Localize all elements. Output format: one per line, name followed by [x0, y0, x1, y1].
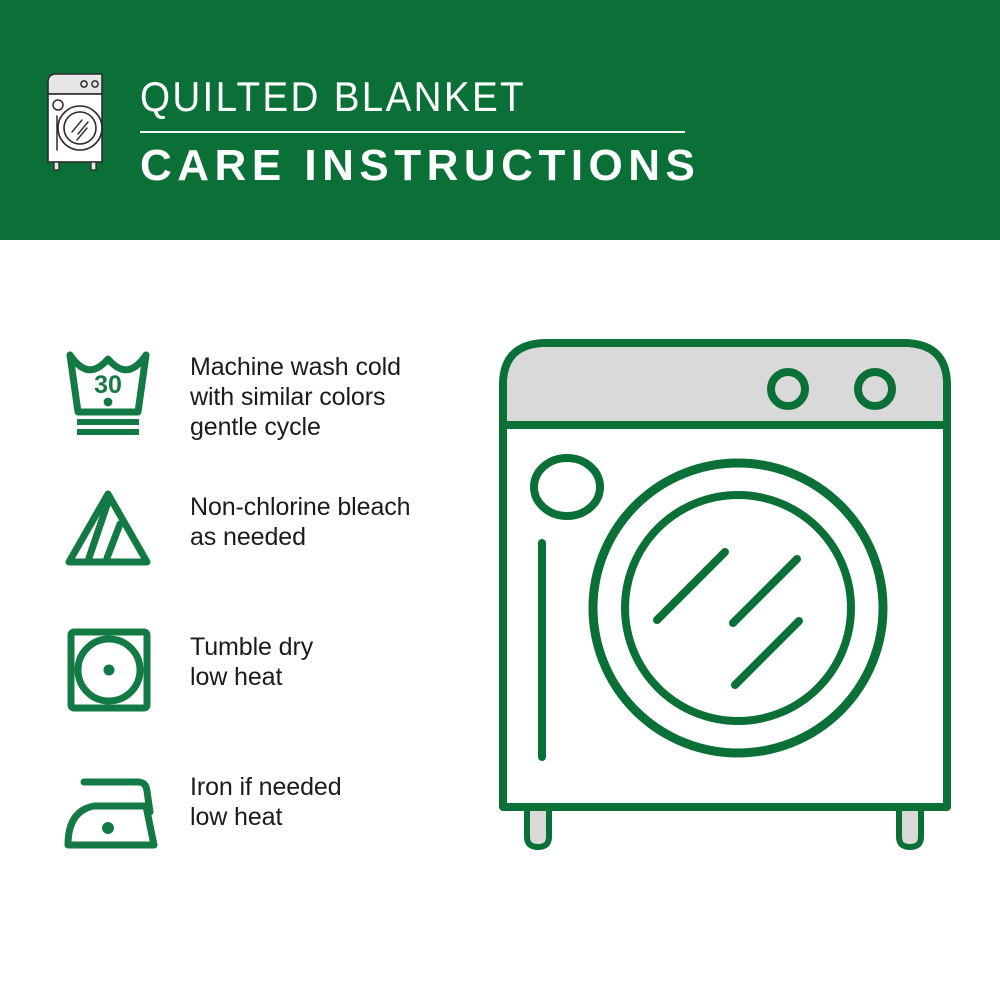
instruction-line: Tumble dry: [190, 632, 313, 662]
instruction-row: Iron if needed low heat: [40, 750, 480, 890]
instruction-text: Non-chlorine bleach as needed: [190, 470, 410, 552]
instruction-text: Tumble dry low heat: [190, 610, 313, 692]
instruction-line: low heat: [190, 802, 342, 832]
non-chlorine-bleach-triangle-icon: [40, 470, 190, 590]
care-instructions-page: QUILTED BLANKET CARE INSTRUCTIONS 30: [0, 0, 1000, 1000]
page-subtitle: CARE INSTRUCTIONS: [140, 140, 700, 192]
tumble-dry-low-heat-icon: [40, 610, 190, 730]
instruction-list: 30 Machine wash cold with similar colors…: [40, 330, 480, 890]
wash-temperature-value: 30: [94, 371, 122, 399]
wash-tub-30-gentle-icon: 30: [40, 330, 190, 450]
instruction-line: gentle cycle: [190, 412, 401, 442]
washing-machine-icon: [44, 68, 110, 172]
instruction-row: Non-chlorine bleach as needed: [40, 470, 480, 610]
instruction-line: with similar colors: [190, 382, 401, 412]
instruction-line: as needed: [190, 522, 410, 552]
front-load-washing-machine-illustration: [485, 325, 985, 935]
instruction-text: Machine wash cold with similar colors ge…: [190, 330, 401, 442]
instruction-text: Iron if needed low heat: [190, 750, 342, 832]
header-text-block: QUILTED BLANKET CARE INSTRUCTIONS: [140, 72, 700, 192]
title-divider: [140, 131, 685, 133]
instruction-row: Tumble dry low heat: [40, 610, 480, 750]
iron-low-heat-icon: [40, 750, 190, 870]
instruction-row: 30 Machine wash cold with similar colors…: [40, 330, 480, 470]
instruction-line: low heat: [190, 662, 313, 692]
instruction-line: Iron if needed: [190, 772, 342, 802]
instruction-line: Non-chlorine bleach: [190, 492, 410, 522]
control-panel: [507, 347, 943, 425]
instruction-line: Machine wash cold: [190, 352, 401, 382]
header-banner: QUILTED BLANKET CARE INSTRUCTIONS: [0, 0, 1000, 240]
page-title: QUILTED BLANKET: [140, 72, 655, 122]
